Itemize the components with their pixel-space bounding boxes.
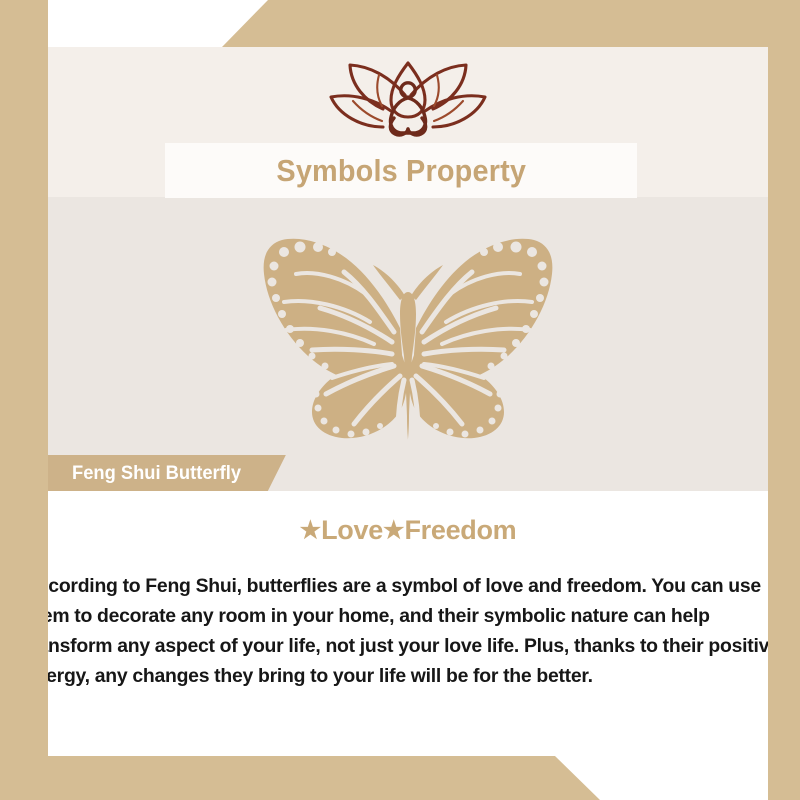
frame-left-border	[0, 0, 48, 800]
frame-bottom-band	[0, 756, 600, 800]
monarch-butterfly-silhouette-icon	[228, 230, 588, 445]
star-icon-middle: ★	[383, 517, 405, 544]
description-paragraph: According to Feng Shui, butterflies are …	[48, 571, 768, 691]
butterfly-illustration	[48, 223, 768, 451]
frame-top-band	[222, 0, 800, 47]
love-freedom-heading: ★Love★Freedom	[48, 515, 768, 546]
frame-right-border	[768, 0, 800, 800]
feng-shui-butterfly-banner: Feng Shui Butterfly	[48, 455, 286, 491]
banner-label: Feng Shui Butterfly	[72, 462, 241, 485]
highlight-word-love: Love	[321, 515, 383, 545]
content-card: BUDDHA STONES Symbols Property	[48, 47, 768, 756]
lotus-meditation-figure-icon	[319, 59, 497, 141]
star-icon-left: ★	[300, 517, 322, 544]
page-root: BUDDHA STONES Symbols Property	[0, 0, 800, 800]
highlight-word-freedom: Freedom	[404, 515, 516, 545]
title-band: Symbols Property	[165, 143, 637, 198]
page-title: Symbols Property	[276, 153, 526, 189]
